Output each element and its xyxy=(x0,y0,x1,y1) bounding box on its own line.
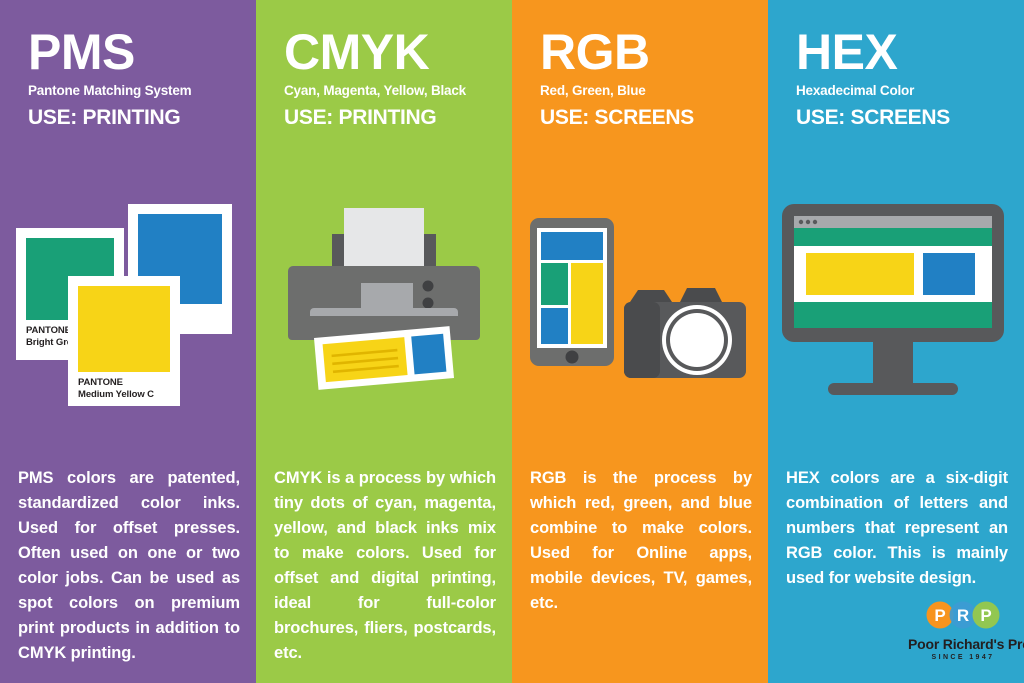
panel-cmyk-subtitle: Cyan, Magenta, Yellow, Black xyxy=(284,83,500,98)
brand-since: SINCE 1947 xyxy=(908,654,1018,661)
pms-swatch-illustration: ue C PANTONE Bright Green PANTONE Medium… xyxy=(0,190,256,430)
cmyk-printer-illustration xyxy=(256,190,512,430)
pantone-chip-yellow xyxy=(78,286,170,372)
panel-cmyk-header: CMYK Cyan, Magenta, Yellow, Black USE: P… xyxy=(284,26,500,130)
rgb-devices-illustration xyxy=(512,190,768,430)
pantone-label-yellow: PANTONE Medium Yellow C xyxy=(78,377,154,401)
prp-monogram-icon: P R P xyxy=(908,600,1018,630)
pantone-label-yellow-line2: Medium Yellow C xyxy=(78,389,154,401)
hex-monitor-illustration xyxy=(768,190,1024,430)
pantone-label-yellow-line1: PANTONE xyxy=(78,377,154,389)
pantone-card-yellow: PANTONE Medium Yellow C xyxy=(68,276,180,406)
panel-hex: HEX Hexadecimal Color USE: SCREENS xyxy=(768,0,1024,683)
svg-text:R: R xyxy=(957,606,969,625)
smartphone-icon xyxy=(530,218,614,366)
brand-logo[interactable]: P R P Poor Richard's Press SINCE 1947 xyxy=(908,600,1018,661)
brand-name: Poor Richard's Press xyxy=(908,636,1018,652)
panel-cmyk-use: USE: PRINTING xyxy=(284,106,500,130)
panel-rgb-header: RGB Red, Green, Blue USE: SCREENS xyxy=(540,26,756,130)
panel-pms-use: USE: PRINTING xyxy=(28,106,244,130)
panel-rgb-title: RGB xyxy=(540,26,756,78)
panel-hex-title: HEX xyxy=(796,26,1012,78)
infographic-root: PMS Pantone Matching System USE: PRINTIN… xyxy=(0,0,1024,683)
panel-cmyk-body: CMYK is a process by which tiny dots of … xyxy=(274,466,496,666)
panel-cmyk: CMYK Cyan, Magenta, Yellow, Black USE: P… xyxy=(256,0,512,683)
printer-icon xyxy=(256,190,512,430)
panel-rgb-subtitle: Red, Green, Blue xyxy=(540,83,756,98)
svg-text:P: P xyxy=(980,606,991,625)
panel-hex-use: USE: SCREENS xyxy=(796,106,1012,130)
panel-rgb-body: RGB is the process by which red, green, … xyxy=(530,466,752,616)
panel-pms: PMS Pantone Matching System USE: PRINTIN… xyxy=(0,0,256,683)
panel-pms-body: PMS colors are patented, standardized co… xyxy=(18,466,240,666)
panel-pms-title: PMS xyxy=(28,26,244,78)
panel-cmyk-title: CMYK xyxy=(284,26,500,78)
panel-hex-subtitle: Hexadecimal Color xyxy=(796,83,1012,98)
panel-pms-subtitle: Pantone Matching System xyxy=(28,83,244,98)
panel-pms-header: PMS Pantone Matching System USE: PRINTIN… xyxy=(28,26,244,130)
desktop-monitor-icon xyxy=(768,190,1024,430)
panel-rgb: RGB Red, Green, Blue USE: SCREENS xyxy=(512,0,768,683)
camera-icon xyxy=(624,288,746,378)
panel-hex-body: HEX colors are a six-digit combination o… xyxy=(786,466,1008,591)
svg-text:P: P xyxy=(934,606,945,625)
panel-rgb-use: USE: SCREENS xyxy=(540,106,756,130)
panel-hex-header: HEX Hexadecimal Color USE: SCREENS xyxy=(796,26,1012,130)
